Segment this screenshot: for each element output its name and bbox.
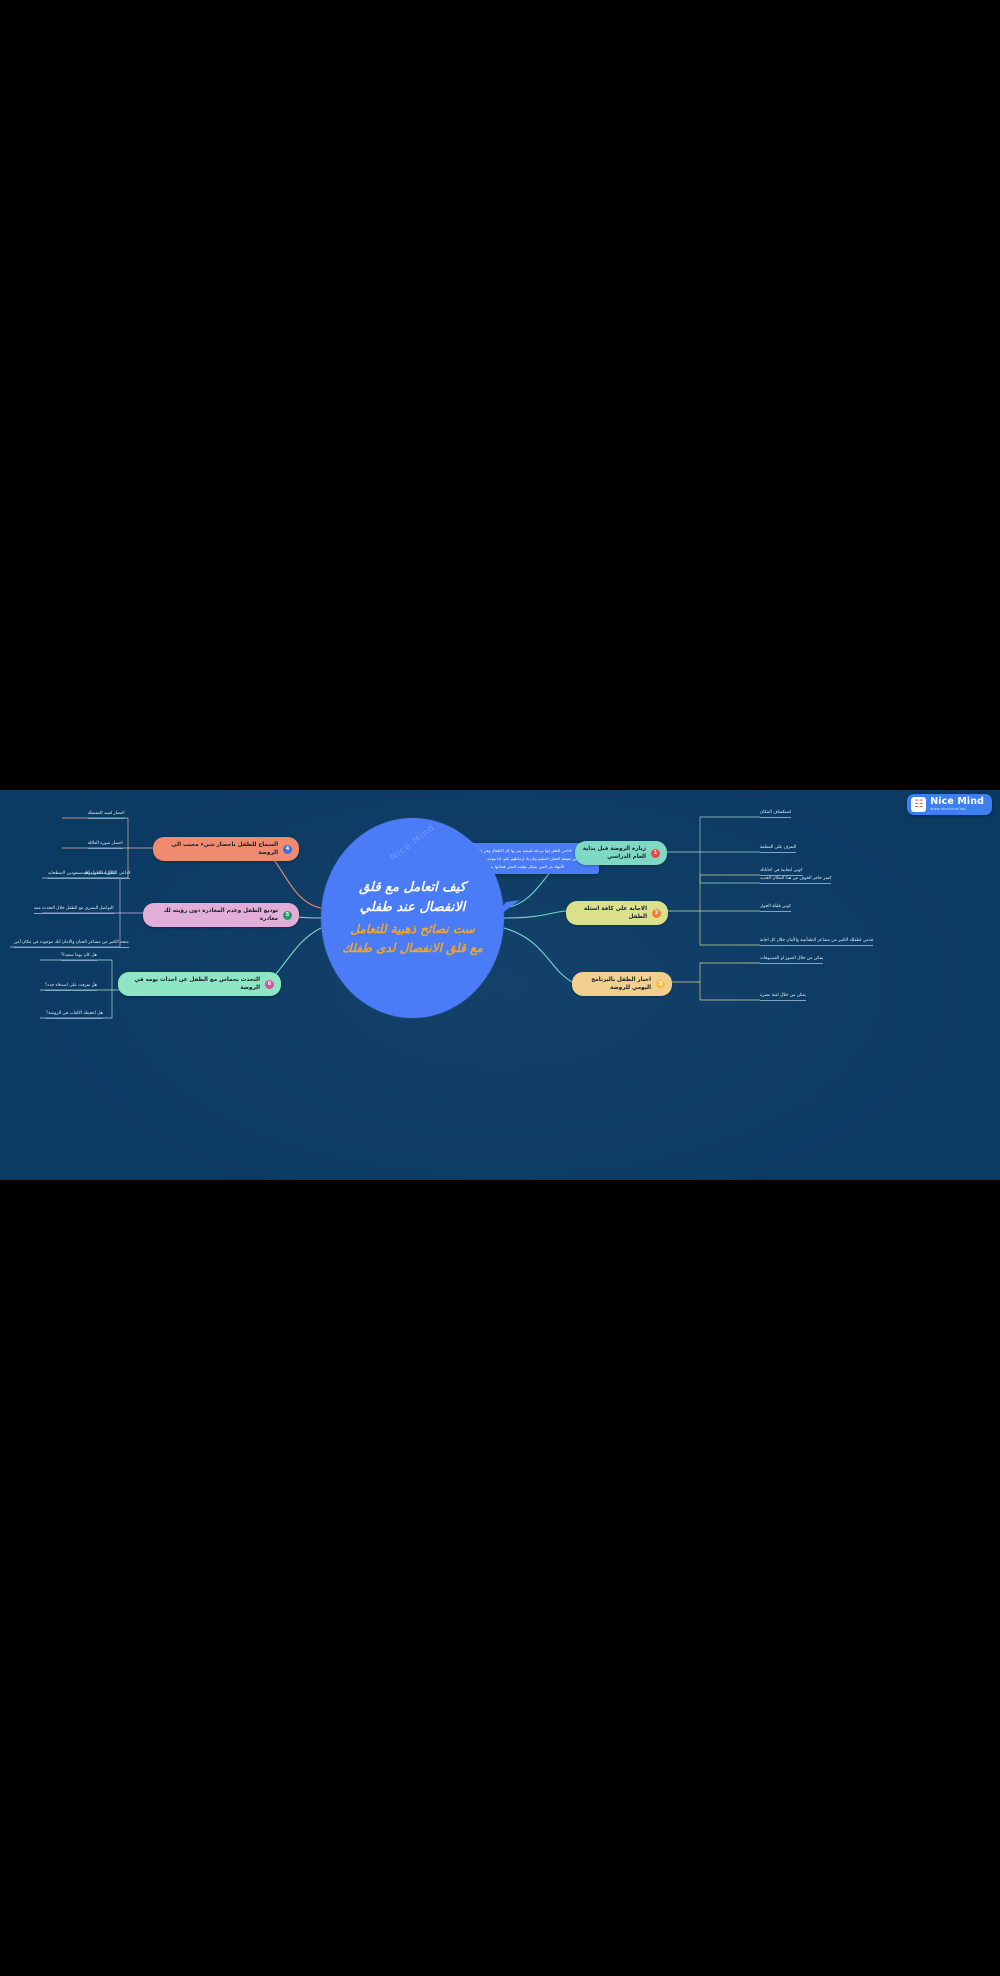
central-subtitle-line-1: ست نصائح ذهبية للتعامل: [342, 920, 483, 939]
branch-4-badge: 4: [283, 845, 292, 854]
branch-node-4[interactable]: 4 السماح للطفل باحضار شيء محبب الى الروض…: [153, 837, 299, 861]
branch-2-label: الاجابة على كافة اسئلة الطفل: [573, 905, 647, 921]
logo-wordmark: Nice Mind www.nicemind.top: [930, 797, 984, 812]
branch-5-label: توديع الطفل وعدم المغادرة دون رؤيته لك م…: [150, 907, 278, 923]
branch-3-leaf-2[interactable]: يمكن من خلال لعبة معبرة: [760, 993, 806, 1001]
branch-5-leaf-3[interactable]: منحه الكثير من مشاعر الحنان والامان انك …: [14, 940, 129, 948]
central-title: كيف اتعامل مع قلق الانفصال عند طفلي: [345, 878, 480, 918]
branch-6-badge: 6: [265, 980, 274, 989]
branch-2-leaf-3[interactable]: قدمي لطفلك الكثير من مشاعر الطمأنينة وال…: [760, 938, 873, 946]
branch-5-leaf-1[interactable]: التأكيد للطفل انكِ ستعودين لاصطحابه: [48, 871, 115, 879]
logo-name: Nice Mind: [930, 797, 984, 807]
branch-1-leaf-2[interactable]: التعرف على المعلمة: [760, 845, 796, 853]
branch-6-leaf-1[interactable]: هل كان يوما سعيدا؟: [61, 953, 97, 961]
branch-4-leaf-2[interactable]: احضار صورة العائلة: [88, 841, 123, 849]
branch-5-badge: 5: [283, 911, 292, 920]
branch-4-leaf-1[interactable]: احضار لعبته المفضلة: [88, 811, 125, 819]
branch-node-1[interactable]: 1 زيارة الروضة قبل بداية العام الدراسي: [575, 841, 667, 865]
branch-2-leaf-1[interactable]: كوني ايجابية في اجاباتك: [760, 868, 803, 876]
mindmap-icon: ☷: [911, 797, 926, 812]
screenshot-stage: ☷ Nice Mind www.nicemind.top لاداعي للقل…: [0, 0, 1000, 1976]
letterbox-bottom: [0, 1180, 1000, 1976]
branch-4-label: السماح للطفل باحضار شيء محبب الى الروضة: [160, 841, 278, 857]
branch-1-badge: 1: [651, 849, 660, 858]
branch-node-3[interactable]: 3 اخبار الطفل بالبرنامج اليومي للروضة: [572, 972, 672, 996]
central-subtitle: ست نصائح ذهبية للتعامل مع قلق الانفصال ل…: [332, 920, 493, 958]
branch-2-badge: 2: [652, 909, 661, 918]
branch-node-6[interactable]: 6 التحدث بحماس مع الطفل عن احداث يومه في…: [118, 972, 281, 996]
branch-1-leaf-1[interactable]: استكشاف المكان: [760, 810, 791, 818]
branch-3-leaf-1[interactable]: يمكن من خلال الصور او الفيديوهات: [760, 956, 823, 964]
branch-2-leaf-2[interactable]: كوني قليلة الحوار: [760, 904, 791, 912]
app-logo[interactable]: ☷ Nice Mind www.nicemind.top: [907, 794, 992, 815]
branch-6-label: التحدث بحماس مع الطفل عن احداث يومه في ا…: [125, 976, 260, 992]
branch-3-label: اخبار الطفل بالبرنامج اليومي للروضة: [579, 976, 651, 992]
branch-1-leaf-3[interactable]: كسر حاجز الخوف من هذا المكان الجديد: [760, 876, 831, 884]
branch-1-label: زيارة الروضة قبل بداية العام الدراسي: [582, 845, 646, 861]
branch-6-leaf-3[interactable]: هل اعجبتك الالعاب في الروضة؟: [46, 1011, 103, 1019]
branch-3-badge: 3: [656, 980, 665, 989]
central-subtitle-line-2: مع قلق الانفصال لدى طفلك: [342, 939, 483, 958]
logo-url: www.nicemind.top: [930, 808, 984, 812]
central-node[interactable]: Nice Mind كيف اتعامل مع قلق الانفصال عند…: [321, 818, 504, 1018]
branch-5-leaf-2[interactable]: التواصل البصري مع الطفل خلال التحدث معه: [34, 906, 114, 914]
central-title-line-1: كيف اتعامل مع قلق: [359, 878, 466, 898]
mindmap-canvas[interactable]: ☷ Nice Mind www.nicemind.top لاداعي للقل…: [0, 790, 1000, 1180]
branch-node-5[interactable]: 5 توديع الطفل وعدم المغادرة دون رؤيته لك…: [143, 903, 299, 927]
branch-6-leaf-2[interactable]: هل تعرفت على اصدقاء جدد؟: [45, 983, 97, 991]
letterbox-top: [0, 0, 1000, 790]
branch-node-2[interactable]: 2 الاجابة على كافة اسئلة الطفل: [566, 901, 668, 925]
central-title-line-2: الانفصال عند طفلي: [359, 898, 466, 918]
watermark-text: Nice Mind: [388, 823, 436, 864]
